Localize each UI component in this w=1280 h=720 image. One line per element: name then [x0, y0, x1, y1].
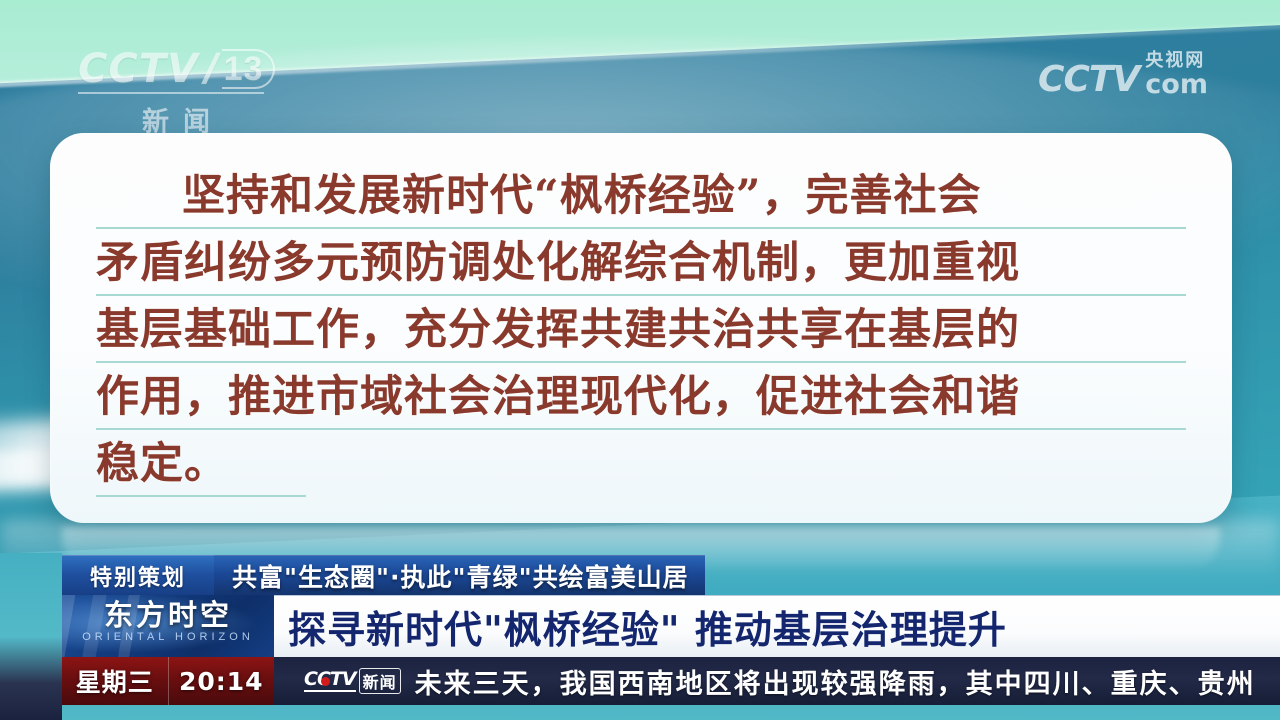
lower-third-left-fill [0, 553, 62, 720]
subtitle-bar: 特别策划 共富"生态圈"·执此"青绿"共绘富美山居 [62, 555, 705, 595]
ticker-cctv-news-logo: CCTV 新闻 [304, 668, 401, 694]
headline-text: 探寻新时代"枫桥经验" 推动基层治理提升 [288, 599, 1007, 654]
program-identity-block: 东方时空 ORIENTAL HORIZON 星期三 20:14 [62, 595, 274, 705]
quote-card: 坚持和发展新时代“枫桥经验”，完善社会 矛盾纠纷多元预防调处化解综合机制，更加重… [50, 133, 1232, 523]
program-name-en: ORIENTAL HORIZON [62, 631, 274, 643]
subtitle-text: 共富"生态圈"·执此"青绿"共绘富美山居 [214, 555, 705, 595]
broadcast-frame: CCTV / 13 新闻 CCTV 央视网 com 坚持和发展新时代“枫桥经验”… [0, 0, 1280, 720]
ticker-logo-cn: 新闻 [359, 668, 401, 694]
headline-bar: 探寻新时代"枫桥经验" 推动基层治理提升 [274, 595, 1280, 657]
quote-line-2: 矛盾纠纷多元预防调处化解综合机制，更加重视 [96, 230, 1186, 297]
ticker-headline-text: 未来三天，我国西南地区将出现较强降雨，其中四川、重庆、贵州 [415, 662, 1256, 701]
clock-time: 20:14 [168, 657, 275, 705]
quote-line-1: 坚持和发展新时代“枫桥经验”，完善社会 [96, 163, 1186, 230]
news-ticker: CCTV 新闻 未来三天，我国西南地区将出现较强降雨，其中四川、重庆、贵州 [274, 657, 1280, 705]
quote-line-3: 基层基础工作，充分发挥共建共治共享在基层的 [96, 297, 1186, 364]
quote-line-4: 作用，推进市域社会治理现代化，促进社会和谐 [96, 364, 1186, 431]
ticker-logo-red-dot [321, 677, 330, 686]
program-logo: 东方时空 ORIENTAL HORIZON [62, 595, 274, 657]
program-clock-bar: 星期三 20:14 [62, 657, 274, 705]
lower-third: 特别策划 共富"生态圈"·执此"青绿"共绘富美山居 东方时空 ORIENTAL … [0, 553, 1280, 720]
quote-line-5: 稳定。 [96, 431, 1186, 498]
special-planning-badge: 特别策划 [62, 555, 214, 595]
program-name-cn: 东方时空 [62, 595, 274, 632]
weekday-label: 星期三 [62, 657, 168, 705]
